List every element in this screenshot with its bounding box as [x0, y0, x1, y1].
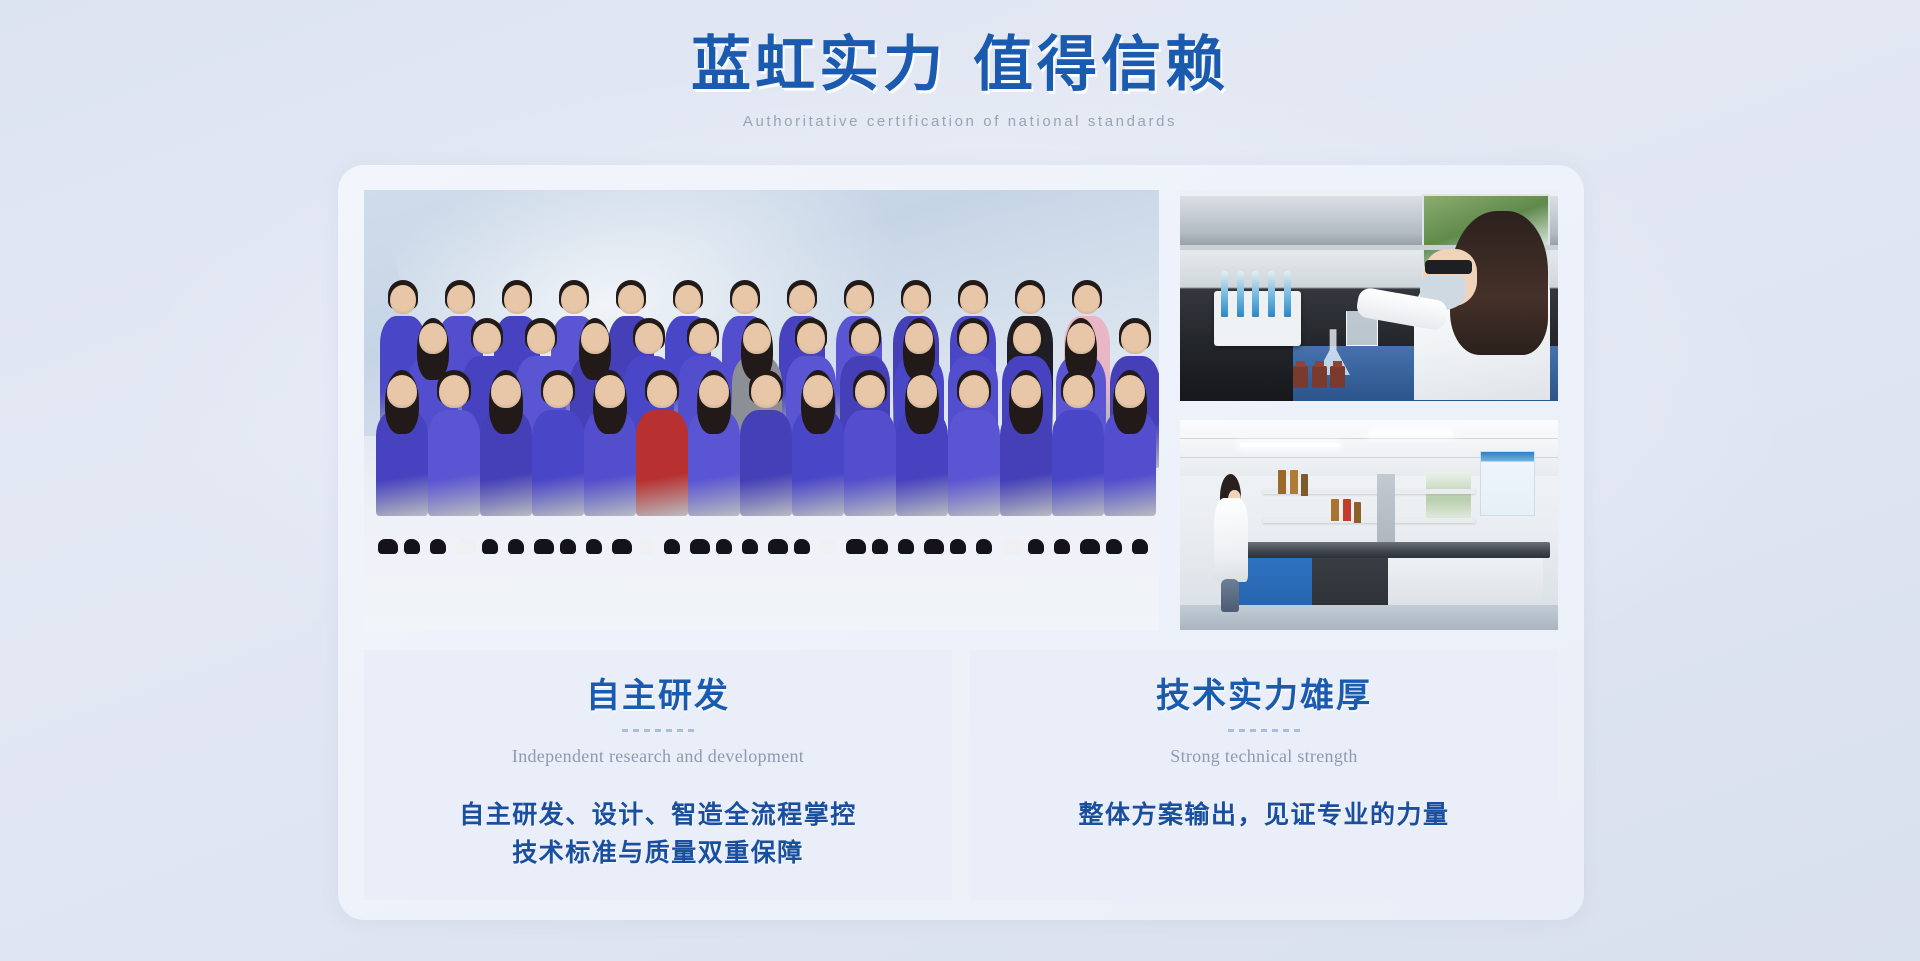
shoe: [430, 539, 446, 554]
face: [732, 285, 758, 314]
team-member: [740, 370, 792, 516]
shoe: [664, 539, 680, 554]
card-subtitle: Strong technical strength: [990, 746, 1538, 767]
side-photo-column: [1180, 190, 1558, 630]
pipette-icon: [1252, 271, 1259, 317]
team-member: [1104, 370, 1156, 516]
shoe: [1054, 539, 1070, 554]
card-subtitle: Independent research and development: [384, 746, 932, 767]
team-member: [584, 370, 636, 516]
shoe: [742, 539, 758, 554]
reagent-shelf: [1263, 518, 1475, 523]
face: [1074, 285, 1100, 314]
face: [903, 285, 929, 314]
shoe: [1028, 539, 1044, 554]
shoe: [1132, 539, 1148, 554]
card-body-line: 技术标准与质量双重保障: [384, 835, 932, 874]
shoe: [872, 539, 888, 554]
content-panel: 自主研发 Independent research and developmen…: [338, 165, 1584, 920]
uniform: [948, 410, 1000, 516]
pipette-icon: [1268, 271, 1275, 317]
shoe: [508, 539, 524, 554]
shoe: [1080, 539, 1100, 554]
face: [439, 375, 469, 408]
reagent-bottle-icon: [1330, 366, 1345, 388]
pipette-rack: [1214, 291, 1301, 346]
card-title: 技术实力雄厚: [990, 676, 1538, 719]
face: [390, 285, 416, 314]
uniform: [428, 410, 480, 516]
shoe: [794, 539, 810, 554]
face: [1013, 323, 1041, 354]
shoe: [950, 539, 966, 554]
face: [907, 375, 937, 408]
face: [789, 285, 815, 314]
shoe: [560, 539, 576, 554]
lab-island-bench: [1229, 542, 1550, 559]
lab-technician-pipetting-photo: [1180, 190, 1558, 401]
team-member: [688, 370, 740, 516]
company-team-group-photo: [364, 190, 1159, 630]
face: [743, 323, 771, 354]
uniform: [740, 410, 792, 516]
lab-coat: [1214, 498, 1248, 582]
face: [675, 285, 701, 314]
reagent-bottle-icon: [1354, 502, 1361, 523]
feature-card-technical-strength[interactable]: 技术实力雄厚 Strong technical strength 整体方案输出，…: [970, 650, 1558, 900]
shoe: [456, 539, 476, 554]
shoe: [638, 539, 654, 554]
face: [647, 375, 677, 408]
feature-card-independent-rd[interactable]: 自主研发 Independent research and developmen…: [364, 650, 952, 900]
face: [855, 375, 885, 408]
page-title-part2: 值得信赖: [973, 32, 1229, 98]
shoe: [690, 539, 710, 554]
promo-page: 蓝虹实力值得信赖 Authoritative certification of …: [0, 0, 1920, 961]
face: [1121, 323, 1149, 354]
laboratory-room-photo: [1180, 420, 1558, 631]
card-body: 自主研发、设计、智造全流程掌控 技术标准与质量双重保障: [384, 797, 932, 875]
face: [618, 285, 644, 314]
reagent-bottle-icon: [1293, 366, 1308, 388]
face: [504, 285, 530, 314]
team-member: [532, 370, 584, 516]
face: [581, 323, 609, 354]
face: [1115, 375, 1145, 408]
card-body-line: 整体方案输出，见证专业的力量: [990, 797, 1538, 836]
team-member: [1000, 370, 1052, 516]
page-subtitle: Authoritative certification of national …: [0, 113, 1920, 130]
shoe: [534, 539, 554, 554]
face: [905, 323, 933, 354]
pipette-icon: [1284, 271, 1291, 317]
face: [635, 323, 663, 354]
ceiling-light-icon: [1240, 443, 1338, 447]
face: [473, 323, 501, 354]
face: [595, 375, 625, 408]
shoes-row: [364, 520, 1159, 554]
reagent-bottle-icon: [1278, 470, 1286, 494]
lab-researcher: [1214, 474, 1248, 609]
shoe: [716, 539, 732, 554]
page-title: 蓝虹实力值得信赖: [0, 30, 1920, 101]
face: [1063, 375, 1093, 408]
face: [1011, 375, 1041, 408]
shoe: [898, 539, 914, 554]
shoe: [586, 539, 602, 554]
face: [491, 375, 521, 408]
face: [960, 285, 986, 314]
reagent-bottles: [1293, 362, 1345, 388]
uniform: [532, 410, 584, 516]
team-member: [428, 370, 480, 516]
team-member: [896, 370, 948, 516]
team-member: [376, 370, 428, 516]
face: [447, 285, 473, 314]
shoe: [1002, 539, 1022, 554]
shoe: [820, 539, 836, 554]
face: [527, 323, 555, 354]
team-member: [844, 370, 896, 516]
face: [689, 323, 717, 354]
card-body-line: 自主研发、设计、智造全流程掌控: [384, 797, 932, 836]
face: [543, 375, 573, 408]
team-member: [1052, 370, 1104, 516]
reagent-bottle-icon: [1331, 499, 1339, 521]
face: [561, 285, 587, 314]
dashed-divider: [1228, 729, 1300, 732]
shoe: [976, 539, 992, 554]
face: [751, 375, 781, 408]
team-members-group: [364, 274, 1159, 534]
face: [419, 323, 447, 354]
feature-cards: 自主研发 Independent research and developmen…: [364, 650, 1558, 900]
reagent-bottle-icon: [1290, 470, 1298, 494]
face: [851, 323, 879, 354]
lab-technician: [1414, 211, 1550, 400]
pipette-icon: [1237, 271, 1244, 317]
uniform: [844, 410, 896, 516]
card-body: 整体方案输出，见证专业的力量: [990, 797, 1538, 836]
face: [1067, 323, 1095, 354]
face: [1017, 285, 1043, 314]
shoe: [924, 539, 944, 554]
page-title-part1: 蓝虹实力: [691, 32, 947, 98]
reagent-bottle-icon: [1343, 499, 1351, 521]
team-member: [636, 370, 688, 516]
dashed-divider: [622, 729, 694, 732]
shoe: [1106, 539, 1122, 554]
lab-room-window: [1426, 472, 1471, 518]
reagent-bottle-icon: [1301, 474, 1308, 496]
card-title: 自主研发: [384, 676, 932, 719]
page-header: 蓝虹实力值得信赖 Authoritative certification of …: [0, 0, 1920, 130]
shoe: [846, 539, 866, 554]
face: [699, 375, 729, 408]
shoe: [612, 539, 632, 554]
shoe: [404, 539, 420, 554]
team-member: [792, 370, 844, 516]
face: [797, 323, 825, 354]
safety-notice-poster: [1480, 451, 1535, 516]
uniform: [636, 410, 688, 516]
photo-gallery: [364, 190, 1558, 630]
uniform: [1052, 410, 1104, 516]
shoe: [482, 539, 498, 554]
team-member: [480, 370, 532, 516]
face: [959, 323, 987, 354]
face: [803, 375, 833, 408]
shoe: [768, 539, 788, 554]
ceiling-light-icon: [1369, 432, 1452, 436]
pipette-icon: [1221, 271, 1228, 317]
safety-glasses-icon: [1425, 260, 1471, 273]
reagent-bottle-icon: [1312, 366, 1327, 388]
face: [846, 285, 872, 314]
shoe: [378, 539, 398, 554]
ceiling-grid-line: [1180, 438, 1558, 439]
legs: [1221, 579, 1239, 611]
team-member: [948, 370, 1000, 516]
face: [959, 375, 989, 408]
face: [387, 375, 417, 408]
